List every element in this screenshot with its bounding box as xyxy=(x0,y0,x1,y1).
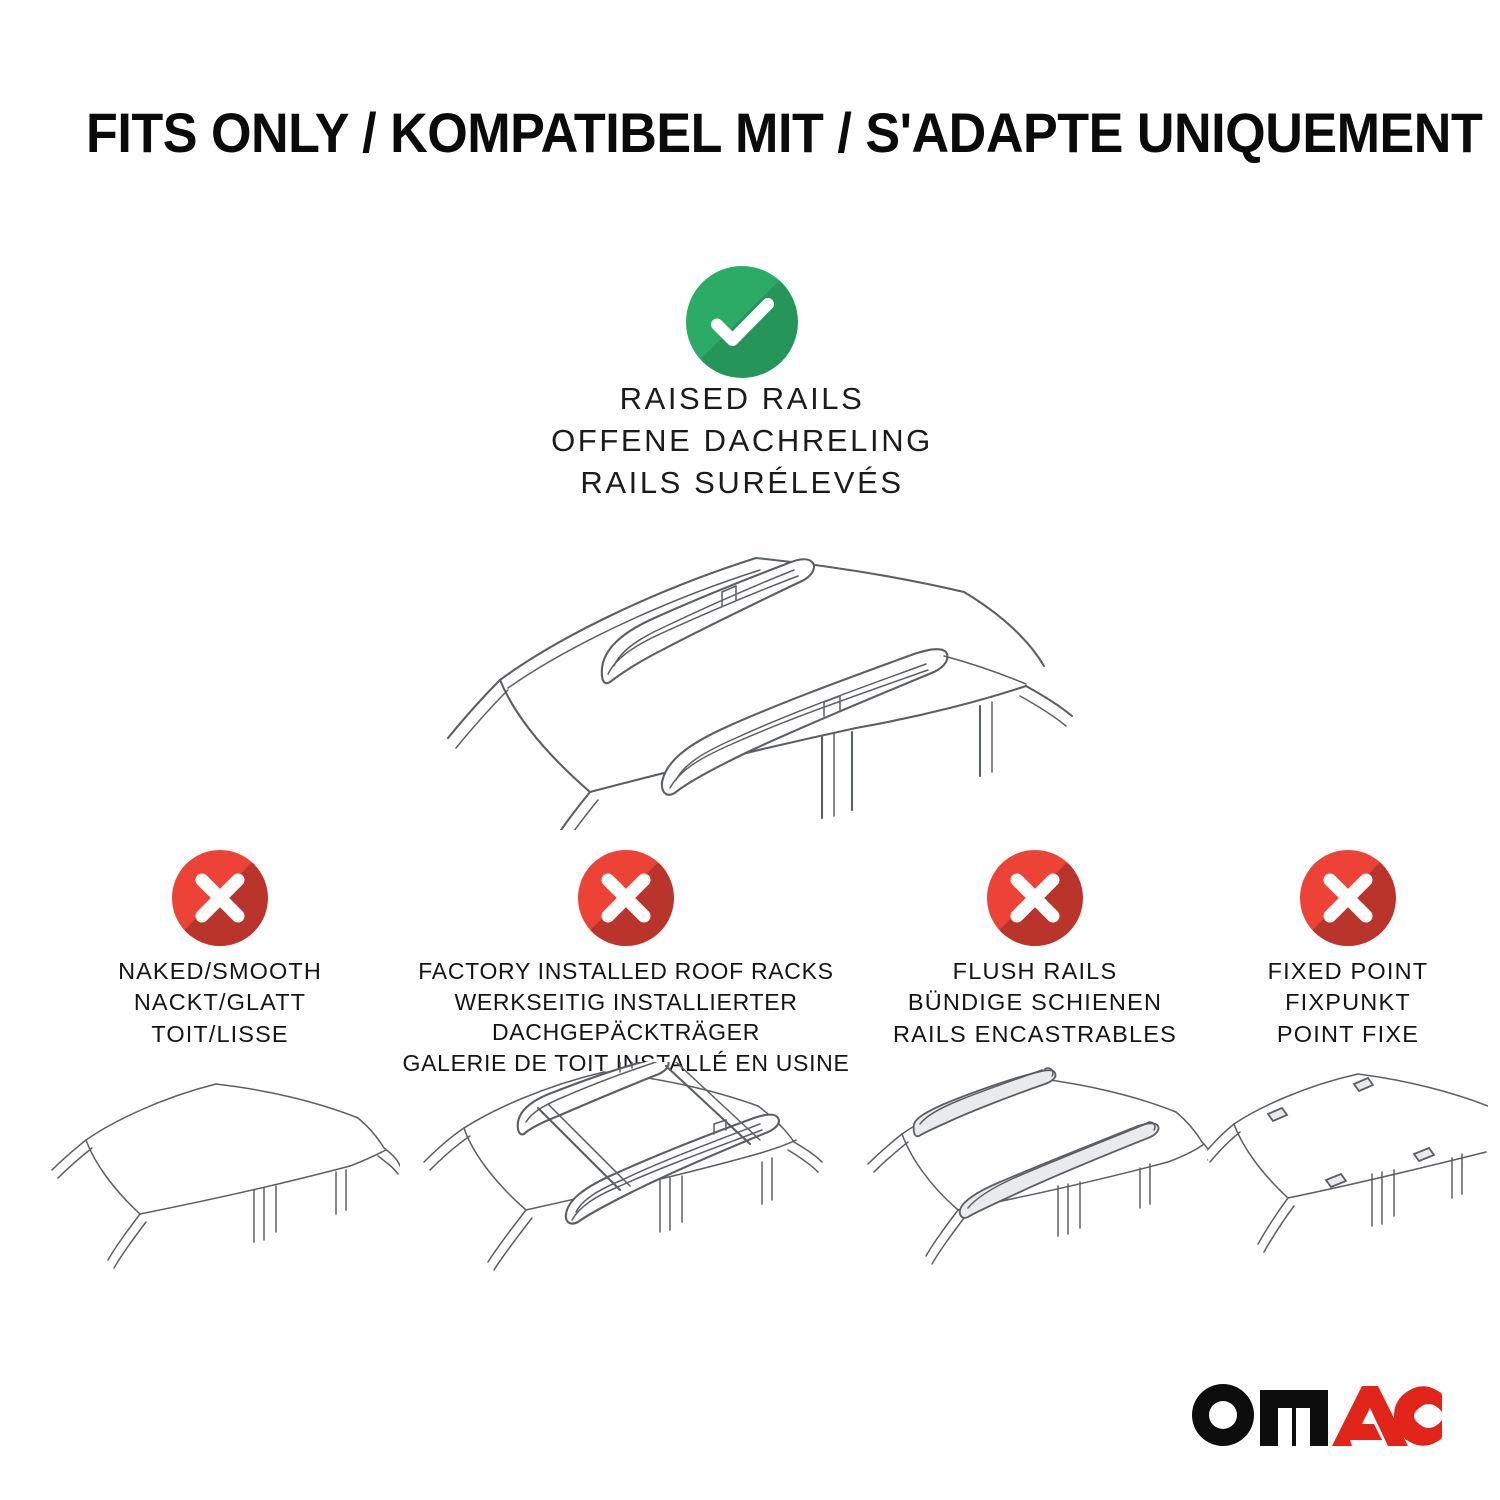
omac-logo xyxy=(1192,1382,1442,1448)
reject-label-en: NAKED/SMOOTH xyxy=(40,956,400,987)
car-roof-raised-rails-illustration xyxy=(404,500,1104,830)
reject-label-group-fixed-point: FIXED POINT FIXPUNKT POINT FIXE xyxy=(1208,956,1488,1050)
reject-label-de: FIXPUNKT xyxy=(1208,987,1488,1018)
reject-label-fr: TOIT/LISSE xyxy=(40,1019,400,1050)
reject-label-group-flush-rails: FLUSH RAILS BÜNDIGE SCHIENEN RAILS ENCAS… xyxy=(862,956,1208,1050)
reject-label-en: FLUSH RAILS xyxy=(862,956,1208,987)
approved-label-en: RAISED RAILS xyxy=(420,378,1064,420)
car-roof-fixed-point-illustration xyxy=(1208,1062,1488,1292)
page-title: FITS ONLY / KOMPATIBEL MIT / S'ADAPTE UN… xyxy=(86,104,1332,163)
reject-label-en: FACTORY INSTALLED ROOF RACKS xyxy=(398,956,854,987)
approved-label-fr: RAILS SURÉLEVÉS xyxy=(420,462,1064,504)
reject-label-de-2: DACHGEPÄCKTRÄGER xyxy=(398,1017,854,1048)
check-circle-icon xyxy=(686,266,798,378)
reject-label-de: NACKT/GLATT xyxy=(40,987,400,1018)
reject-label-fr: RAILS ENCASTRABLES xyxy=(862,1019,1208,1050)
approved-label-group: RAISED RAILS OFFENE DACHRELING RAILS SUR… xyxy=(420,378,1064,504)
x-circle-icon xyxy=(172,850,268,946)
reject-label-en: FIXED POINT xyxy=(1208,956,1488,987)
car-roof-naked-illustration xyxy=(40,1062,400,1292)
reject-label-fr: POINT FIXE xyxy=(1208,1019,1488,1050)
reject-label-de-1: WERKSEITIG INSTALLIERTER xyxy=(398,987,854,1018)
reject-label-group-naked-smooth: NAKED/SMOOTH NACKT/GLATT TOIT/LISSE xyxy=(40,956,400,1050)
x-circle-icon xyxy=(1300,850,1396,946)
reject-label-group-factory-racks: FACTORY INSTALLED ROOF RACKS WERKSEITIG … xyxy=(398,956,854,1078)
approved-label-de: OFFENE DACHRELING xyxy=(420,420,1064,462)
car-roof-flush-rails-illustration xyxy=(862,1062,1208,1292)
x-circle-icon xyxy=(987,850,1083,946)
x-circle-icon xyxy=(578,850,674,946)
reject-label-de: BÜNDIGE SCHIENEN xyxy=(862,987,1208,1018)
car-roof-factory-crossbars-illustration xyxy=(398,1062,854,1292)
